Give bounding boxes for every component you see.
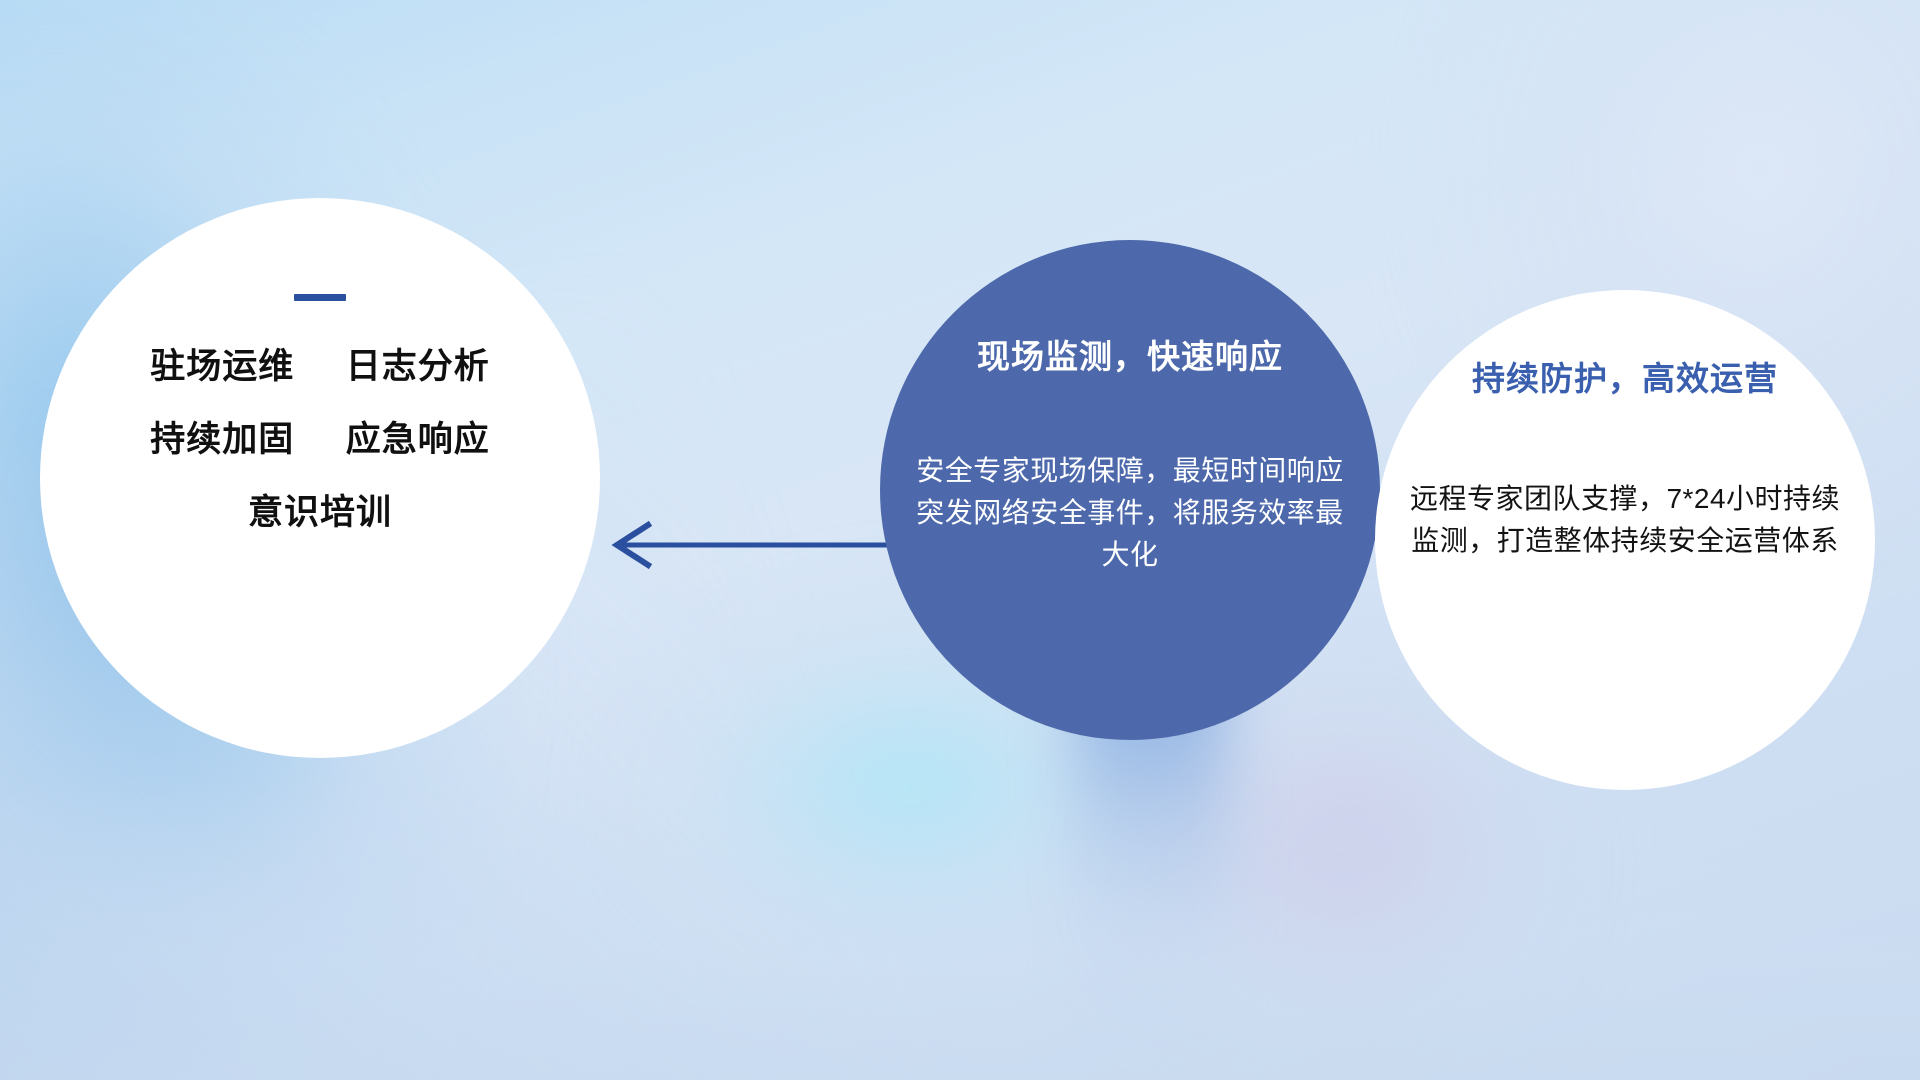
capability-circle-left-content: 驻场运维 日志分析 持续加固 应急响应 意识培训 — [40, 294, 600, 530]
capability-tag-rizhifenxi: 日志分析 — [346, 347, 490, 386]
capability-tag-yishipeixun: 意识培训 — [248, 493, 392, 532]
right-circle-title: 持续防护，高效运营 — [1399, 352, 1851, 400]
middle-circle-body: 安全专家现场保障，最短时间响应突发网络安全事件，将服务效率最大化 — [902, 450, 1358, 576]
capability-row-2: 持续加固 应急响应 — [74, 422, 566, 457]
capability-circle-right-content: 持续防护，高效运营 远程专家团队支撑，7*24小时持续监测，打造整体持续安全运营… — [1375, 352, 1875, 562]
capability-circle-middle-content: 现场监测，快速响应 安全专家现场保障，最短时间响应突发网络安全事件，将服务效率最… — [880, 330, 1380, 576]
capability-circle-left: 驻场运维 日志分析 持续加固 应急响应 意识培训 — [40, 198, 600, 758]
slide-canvas: 驻场运维 日志分析 持续加固 应急响应 意识培训 现场监测，快速响应 安全专家现… — [0, 0, 1920, 1080]
capability-circle-right: 持续防护，高效运营 远程专家团队支撑，7*24小时持续监测，打造整体持续安全运营… — [1375, 290, 1875, 790]
capability-tag-chixujiagu: 持续加固 — [150, 420, 294, 459]
right-circle-body: 远程专家团队支撑，7*24小时持续监测，打造整体持续安全运营体系 — [1399, 478, 1851, 562]
background-bottom-sheen — [0, 780, 1920, 1080]
capability-row-1: 驻场运维 日志分析 — [74, 349, 566, 384]
capability-circle-middle: 现场监测，快速响应 安全专家现场保障，最短时间响应突发网络安全事件，将服务效率最… — [880, 240, 1380, 740]
capability-tag-zhuchangyunwei: 驻场运维 — [150, 347, 294, 386]
accent-dash — [294, 294, 346, 301]
capability-tag-yingjixiangying: 应急响应 — [346, 420, 490, 459]
capability-row-3: 意识培训 — [74, 495, 566, 530]
middle-circle-title: 现场监测，快速响应 — [902, 330, 1358, 378]
arrow-left-icon — [600, 510, 900, 580]
